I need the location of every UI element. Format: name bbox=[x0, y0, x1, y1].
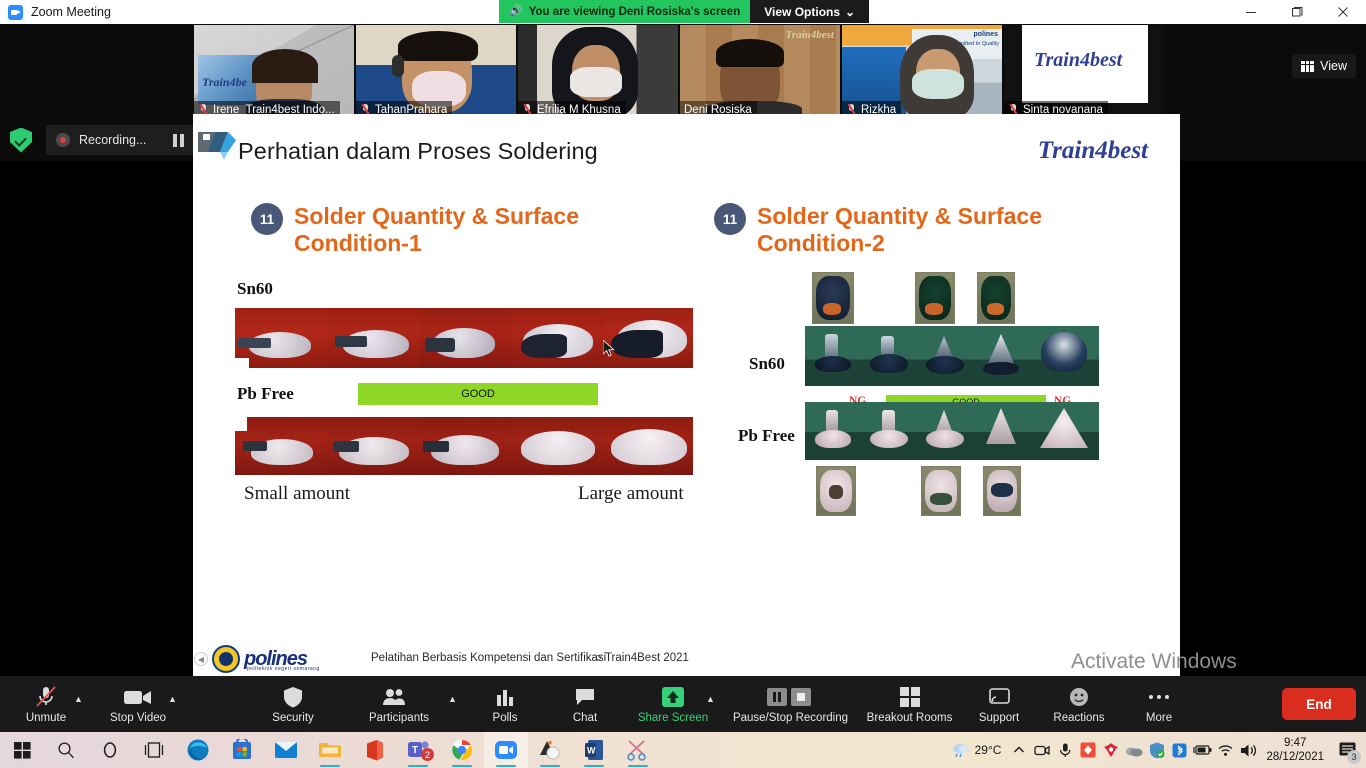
toolbar-label: Share Screen bbox=[638, 712, 708, 724]
taskbar-active-underline bbox=[320, 765, 340, 768]
zoom-icon[interactable] bbox=[484, 732, 528, 768]
wifi-icon[interactable] bbox=[1214, 743, 1237, 757]
left-good-bar: GOOD bbox=[358, 383, 598, 405]
microsoft-store-icon[interactable] bbox=[220, 732, 264, 768]
screen-share-banner: 🔊 You are viewing Deni Rosiska's screen … bbox=[499, 0, 869, 23]
obs-icon[interactable] bbox=[528, 732, 572, 768]
system-tray: 29°C bbox=[950, 732, 1366, 768]
chevron-down-icon: ⌄ bbox=[845, 5, 855, 19]
speech-bubble-icon bbox=[574, 685, 596, 709]
view-options-label: View Options bbox=[764, 5, 840, 19]
ellipsis-icon bbox=[1148, 685, 1170, 709]
participant-filmstrip: Train4be Irene_Train4best Indo... bbox=[0, 24, 1366, 119]
svg-text:T: T bbox=[412, 745, 418, 756]
window-title: Zoom Meeting bbox=[31, 5, 111, 19]
pause-recording-button[interactable] bbox=[173, 134, 184, 147]
show-hidden-icons-chevron[interactable] bbox=[1007, 745, 1030, 755]
slide-title: Perhatian dalam Proses Soldering bbox=[238, 138, 598, 165]
people-icon bbox=[382, 685, 416, 709]
bottom-chip-photo bbox=[921, 466, 961, 516]
teams-icon[interactable]: T 2 bbox=[396, 732, 440, 768]
taskbar-active-underline bbox=[408, 765, 428, 768]
view-button-label: View bbox=[1320, 59, 1347, 73]
weather-temperature[interactable]: 29°C bbox=[975, 743, 1002, 757]
battery-charging-icon[interactable] bbox=[1191, 744, 1214, 756]
left-sn60-label: Sn60 bbox=[237, 279, 273, 299]
left-pbfree-label: Pb Free bbox=[237, 384, 294, 404]
toolbar-label: Stop Video bbox=[110, 712, 166, 724]
toolbar-label: Reactions bbox=[1053, 712, 1104, 724]
screen-recorder-icon[interactable] bbox=[1076, 742, 1099, 758]
taskbar-active-underline bbox=[540, 765, 560, 768]
zoom-toolbar: Unmute ▲ Stop Video ▲ Security bbox=[0, 676, 1366, 732]
video-thumbnail[interactable]: polines Committed to Quality Rizkha bbox=[842, 25, 1002, 118]
polines-subtitle: politeknik negeri semarang bbox=[247, 666, 320, 672]
nox-antivirus-icon[interactable] bbox=[1099, 742, 1122, 758]
toolbar-label: Support bbox=[979, 712, 1019, 724]
mail-icon[interactable] bbox=[264, 732, 308, 768]
right-sn60-photo-strip bbox=[805, 326, 1099, 386]
toolbar-label: Security bbox=[272, 712, 314, 724]
clock-time: 9:47 bbox=[1266, 736, 1324, 750]
toolbar-unmute-button[interactable]: Unmute bbox=[9, 680, 83, 730]
shield-icon bbox=[283, 685, 303, 709]
copyright-text: Train4Best 2021 bbox=[605, 652, 689, 664]
slide-brand-logo: Train4best bbox=[1038, 137, 1148, 165]
toolbar-label: Unmute bbox=[26, 712, 66, 724]
viewing-status: 🔊 You are viewing Deni Rosiska's screen bbox=[499, 0, 750, 23]
slide-prev-button[interactable]: ◀ bbox=[194, 652, 208, 666]
polines-logo-icon bbox=[212, 645, 240, 673]
notification-count-badge: 3 bbox=[1347, 750, 1361, 764]
viewing-status-text: You are viewing Deni Rosiska's screen bbox=[529, 6, 741, 18]
mic-muted-icon bbox=[35, 685, 57, 709]
top-chip-photo bbox=[915, 272, 955, 324]
toolbar-breakout-rooms-button[interactable]: Breakout Rooms bbox=[862, 680, 957, 730]
edge-icon[interactable] bbox=[176, 732, 220, 768]
task-view-icon[interactable] bbox=[132, 732, 176, 768]
toolbar-label: Breakout Rooms bbox=[867, 712, 953, 724]
toolbar-label: Chat bbox=[573, 712, 597, 724]
left-sn60-photo-strip bbox=[235, 308, 693, 368]
end-meeting-button[interactable]: End bbox=[1282, 688, 1356, 720]
taskbar-clock[interactable]: 9:47 28/12/2021 bbox=[1266, 736, 1324, 765]
toolbar-label: More bbox=[1146, 712, 1172, 724]
toolbar-pause-stop-recording-button[interactable]: Pause/Stop Recording bbox=[728, 680, 853, 730]
shared-screen-slide: Perhatian dalam Proses Soldering Train4b… bbox=[193, 114, 1180, 676]
left-axis-large-label: Large amount bbox=[578, 483, 684, 505]
toolbar-polls-button[interactable]: Polls bbox=[468, 680, 542, 730]
speaker-icon: 🔊 bbox=[509, 6, 523, 17]
copyright-mark: ○ bbox=[595, 652, 602, 664]
microphone-icon[interactable] bbox=[1053, 742, 1076, 758]
toolbar-support-button[interactable]: Support bbox=[962, 680, 1036, 730]
up-arrow-icon bbox=[660, 685, 686, 709]
onedrive-icon[interactable] bbox=[1122, 744, 1145, 757]
slide-footer-copyright: ○ Train4Best 2021 bbox=[595, 652, 689, 664]
squares-icon bbox=[899, 685, 921, 709]
cast-icon bbox=[987, 685, 1011, 709]
search-icon[interactable] bbox=[44, 732, 88, 768]
activate-windows-title: Activate Windows bbox=[1071, 650, 1237, 674]
right-sn60-label: Sn60 bbox=[749, 354, 785, 374]
clock-date: 28/12/2021 bbox=[1266, 750, 1324, 764]
grid-view-icon bbox=[1301, 61, 1314, 72]
video-thumbnail[interactable]: Efrilia M Khusna bbox=[518, 25, 678, 118]
snipping-tool-icon[interactable] bbox=[616, 732, 660, 768]
video-thumbnail-active-speaker[interactable]: Train4best Deni Rosiska bbox=[680, 25, 840, 118]
bar-chart-icon bbox=[495, 685, 515, 709]
cortana-icon[interactable] bbox=[88, 732, 132, 768]
toolbar-label: Pause/Stop Recording bbox=[733, 712, 848, 724]
zoom-logo-icon bbox=[8, 5, 23, 20]
weather-icon[interactable] bbox=[950, 742, 973, 758]
zoom-meeting-window: Zoom Meeting 🔊 You are viewing Deni Rosi… bbox=[0, 0, 1366, 768]
bluetooth-icon[interactable] bbox=[1168, 743, 1191, 758]
close-button[interactable] bbox=[1320, 0, 1366, 24]
teams-badge: 2 bbox=[421, 748, 434, 761]
video-camera-icon bbox=[123, 685, 153, 709]
notification-center-icon[interactable]: 3 bbox=[1332, 732, 1362, 768]
start-icon[interactable] bbox=[0, 732, 44, 768]
taskbar-active-underline bbox=[452, 765, 472, 768]
file-explorer-icon[interactable] bbox=[308, 732, 352, 768]
right-pbfree-photo-strip bbox=[805, 402, 1099, 460]
recording-indicator: Recording... bbox=[46, 125, 194, 155]
toolbar-share-screen-button[interactable]: Share Screen bbox=[633, 680, 713, 730]
powerpoint-icon bbox=[198, 130, 236, 160]
toolbar-label: Polls bbox=[493, 712, 518, 724]
audio-options-caret-icon[interactable]: ▲ bbox=[74, 694, 83, 704]
maximize-button[interactable] bbox=[1274, 0, 1320, 24]
toolbar-chat-button[interactable]: Chat bbox=[548, 680, 622, 730]
video-thumbnail[interactable]: Train4best Sinta novanana bbox=[1004, 25, 1164, 118]
word-icon[interactable]: W bbox=[572, 732, 616, 768]
slide-footer-text: Pelatihan Berbasis Kompetensi dan Sertif… bbox=[371, 652, 606, 664]
left-section-heading: Solder Quantity & Surface Condition-1 bbox=[294, 203, 644, 257]
recording-status-text: Recording... bbox=[79, 133, 146, 147]
toolbar-participants-button[interactable]: Participants bbox=[362, 680, 436, 730]
top-chip-photo bbox=[812, 272, 854, 324]
toolbar-stop-video-button[interactable]: Stop Video bbox=[101, 680, 175, 730]
top-chip-photo bbox=[977, 272, 1015, 324]
taskbar-active-underline bbox=[496, 765, 516, 768]
taskbar-active-underline bbox=[628, 765, 648, 768]
video-options-caret-icon[interactable]: ▲ bbox=[168, 694, 177, 704]
security-shield-icon[interactable] bbox=[10, 128, 32, 153]
video-thumbnail[interactable]: Train4be Irene_Train4best Indo... bbox=[194, 25, 354, 118]
right-pbfree-label: Pb Free bbox=[738, 426, 795, 446]
video-thumbnail[interactable]: TahanPrahara bbox=[356, 25, 516, 118]
pause-stop-icon bbox=[765, 685, 817, 709]
view-options-button[interactable]: View Options ⌄ bbox=[750, 0, 869, 23]
record-dot-icon bbox=[56, 133, 70, 147]
left-section-badge: 11 bbox=[251, 203, 283, 235]
taskbar-active-underline bbox=[584, 765, 604, 768]
toolbar-security-button[interactable]: Security bbox=[256, 680, 330, 730]
camera-icon[interactable] bbox=[1030, 743, 1053, 757]
volume-icon[interactable] bbox=[1237, 743, 1260, 758]
windows-security-icon[interactable] bbox=[1145, 742, 1168, 759]
bottom-chip-photo bbox=[983, 466, 1021, 516]
bottom-chip-photo bbox=[816, 466, 856, 516]
mouse-cursor bbox=[603, 340, 615, 358]
left-pbfree-photo-strip bbox=[235, 417, 693, 475]
toolbar-label: Participants bbox=[369, 712, 429, 724]
smiley-icon bbox=[1068, 685, 1090, 709]
svg-text:W: W bbox=[587, 746, 596, 756]
view-layout-button[interactable]: View bbox=[1292, 54, 1356, 78]
participants-caret-icon[interactable]: ▲ bbox=[448, 694, 457, 704]
toolbar-reactions-button[interactable]: Reactions bbox=[1042, 680, 1116, 730]
toolbar-more-button[interactable]: More bbox=[1122, 680, 1196, 730]
chrome-icon[interactable] bbox=[440, 732, 484, 768]
minimize-button[interactable] bbox=[1228, 0, 1274, 24]
left-axis-small-label: Small amount bbox=[244, 483, 350, 505]
office-icon[interactable] bbox=[352, 732, 396, 768]
right-section-badge: 11 bbox=[714, 203, 746, 235]
share-options-caret-icon[interactable]: ▲ bbox=[706, 694, 715, 704]
thumbnail-list: Train4be Irene_Train4best Indo... bbox=[194, 25, 1164, 118]
right-section-heading: Solder Quantity & Surface Condition-2 bbox=[757, 203, 1117, 257]
